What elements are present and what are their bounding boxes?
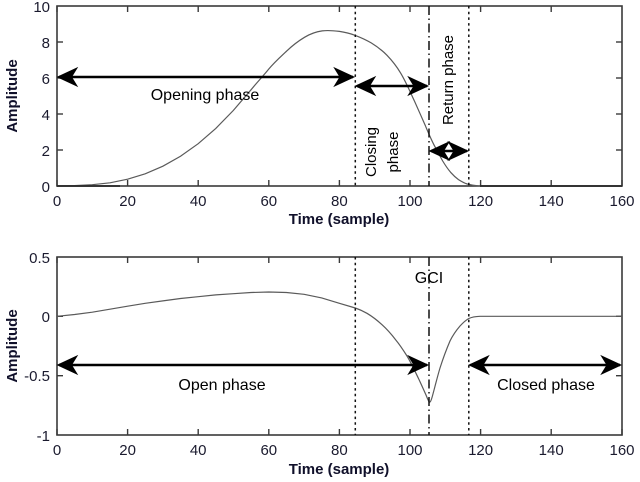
top-label-closing-phase-line1: Closing bbox=[363, 127, 380, 177]
top-xtick-160: 160 bbox=[609, 193, 634, 210]
bottom-ytick-0_5: 0.5 bbox=[29, 250, 50, 267]
top-ytick-8: 8 bbox=[42, 35, 50, 52]
top-xtick-80: 80 bbox=[331, 193, 348, 210]
bottom-ytick-neg1: -1 bbox=[37, 428, 50, 445]
top-ytick-4: 4 bbox=[42, 107, 50, 124]
bottom-xtick-120: 120 bbox=[468, 442, 493, 459]
bottom-ytick-neg0_5: -0.5 bbox=[24, 368, 50, 385]
bottom-plot-frame bbox=[57, 257, 622, 435]
bottom-xtick-100: 100 bbox=[397, 442, 422, 459]
top-label-opening-phase: Opening phase bbox=[151, 87, 260, 104]
top-label-closing-phase-line2: phase bbox=[385, 132, 402, 173]
bottom-ytick-0: 0 bbox=[42, 309, 50, 326]
bottom-xtick-80: 80 bbox=[331, 442, 348, 459]
top-xtick-60: 60 bbox=[260, 193, 277, 210]
top-xtick-120: 120 bbox=[468, 193, 493, 210]
top-xtick-140: 140 bbox=[539, 193, 564, 210]
top-xtick-20: 20 bbox=[119, 193, 136, 210]
bottom-label-open-phase: Open phase bbox=[178, 377, 265, 394]
top-plot-frame bbox=[57, 6, 622, 186]
top-x-ticks bbox=[57, 6, 622, 186]
top-ytick-2: 2 bbox=[42, 143, 50, 160]
top-label-return-phase: Return phase bbox=[440, 35, 457, 125]
top-xtick-40: 40 bbox=[190, 193, 207, 210]
top-chart-panel: 10 8 6 4 2 0 0 20 40 60 80 100 120 140 1… bbox=[4, 0, 635, 228]
top-y-ticks bbox=[57, 42, 622, 150]
figure-glottal-flow-and-derivative: 10 8 6 4 2 0 0 20 40 60 80 100 120 140 1… bbox=[0, 0, 640, 482]
top-ytick-10: 10 bbox=[33, 0, 50, 16]
bottom-xtick-40: 40 bbox=[190, 442, 207, 459]
bottom-x-ticks bbox=[57, 257, 622, 435]
bottom-xtick-20: 20 bbox=[119, 442, 136, 459]
top-ytick-0: 0 bbox=[42, 179, 50, 196]
top-x-axis-title: Time (sample) bbox=[289, 211, 390, 228]
top-xtick-100: 100 bbox=[397, 193, 422, 210]
bottom-xtick-140: 140 bbox=[539, 442, 564, 459]
bottom-xtick-160: 160 bbox=[609, 442, 634, 459]
top-curve-glottal-flow bbox=[57, 31, 622, 186]
bottom-y-axis-title: Amplitude bbox=[4, 309, 21, 382]
bottom-xtick-0: 0 bbox=[53, 442, 61, 459]
bottom-label-gci: GCI bbox=[415, 270, 443, 287]
bottom-chart-panel: 0.5 0 -0.5 -1 0 20 40 60 80 100 120 140 … bbox=[4, 250, 635, 478]
bottom-xtick-60: 60 bbox=[260, 442, 277, 459]
bottom-label-closed-phase: Closed phase bbox=[497, 377, 595, 394]
top-ytick-6: 6 bbox=[42, 71, 50, 88]
bottom-y-ticks bbox=[57, 316, 622, 375]
bottom-x-axis-title: Time (sample) bbox=[289, 461, 390, 478]
top-y-axis-title: Amplitude bbox=[4, 59, 21, 132]
top-xtick-0: 0 bbox=[53, 193, 61, 210]
